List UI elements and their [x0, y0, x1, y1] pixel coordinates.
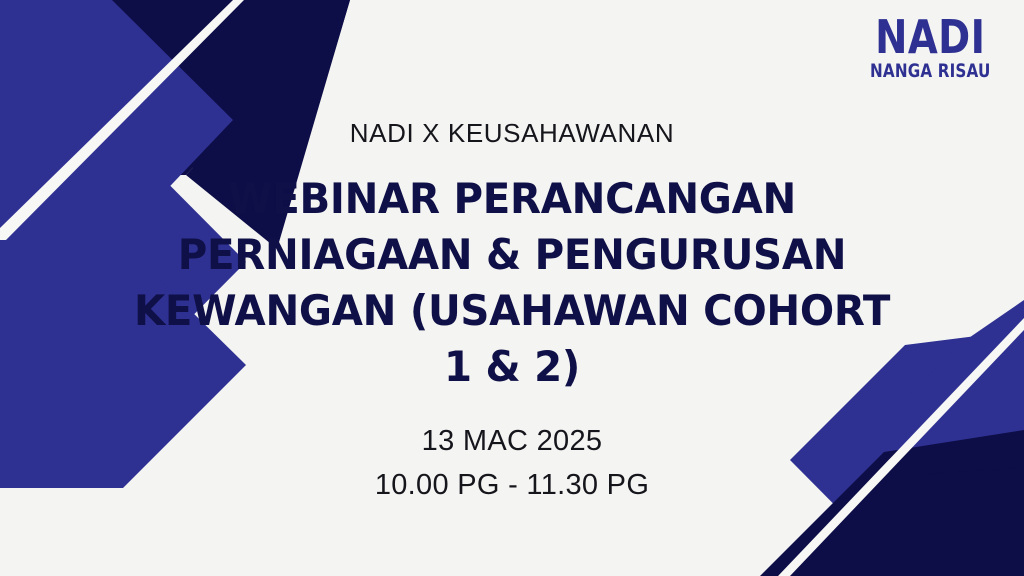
eyebrow-text: NADI X KEUSAHAWANAN — [350, 118, 674, 149]
title-line-3: KEWANGAN (USAHAWAN COHORT — [80, 283, 944, 339]
title-line-4: 1 & 2) — [80, 339, 944, 395]
event-announcement-slide: NADI NANGA RISAU NADI X KEUSAHAWANAN WEB… — [0, 0, 1024, 576]
event-schedule: 13 MAC 2025 10.00 PG - 11.30 PG — [375, 419, 649, 507]
slide-content: NADI X KEUSAHAWANAN WEBINAR PERANCANGAN … — [0, 0, 1024, 576]
title-line-2: PERNIAGAAN & PENGURUSAN — [80, 227, 944, 283]
event-title: WEBINAR PERANCANGAN PERNIAGAAN & PENGURU… — [62, 171, 962, 395]
event-time: 10.00 PG - 11.30 PG — [375, 463, 649, 507]
title-line-1: WEBINAR PERANCANGAN — [80, 171, 944, 227]
event-date: 13 MAC 2025 — [375, 419, 649, 463]
